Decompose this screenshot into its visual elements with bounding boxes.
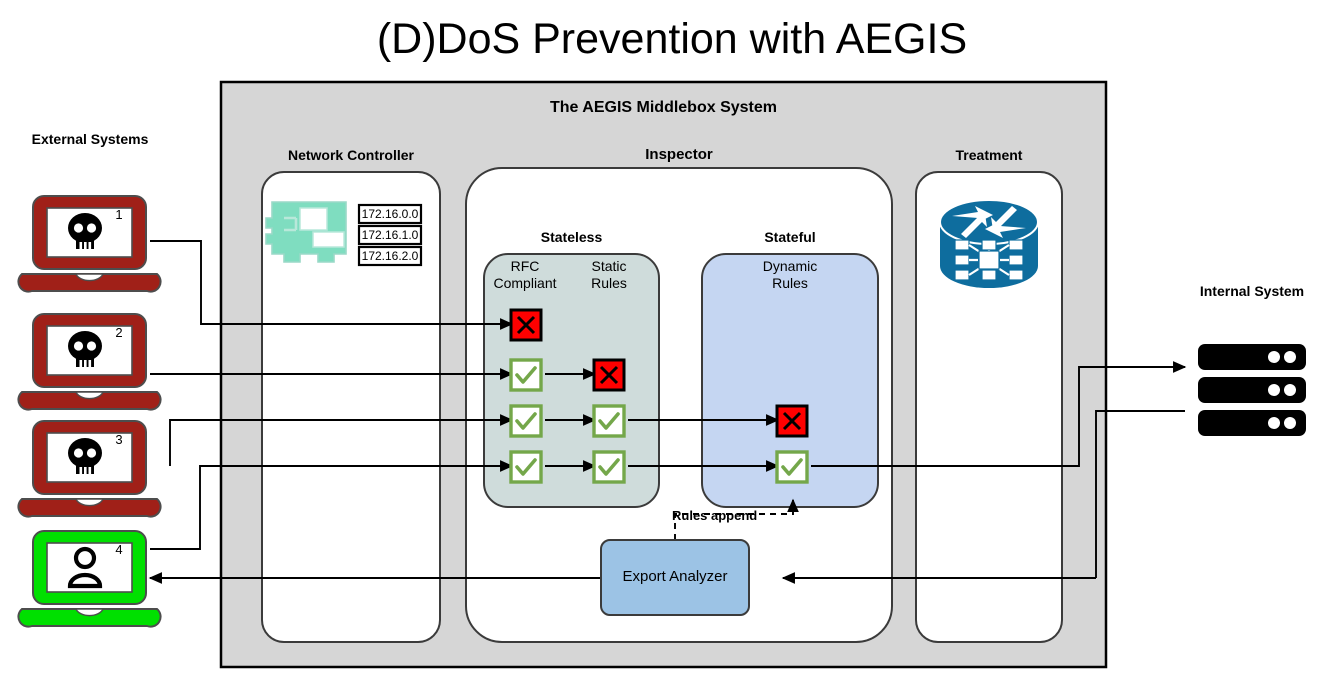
- subnet-label-2: 172.16.2.0: [359, 249, 421, 263]
- static-line-1: Static: [591, 258, 626, 274]
- export-analyzer-label: Export Analyzer: [601, 568, 749, 586]
- inspector-label: Inspector: [466, 146, 892, 163]
- rfc-compliant-column-header: RFC Compliant: [487, 258, 563, 292]
- network-controller-label: Network Controller: [262, 147, 440, 163]
- treatment-label: Treatment: [906, 147, 1072, 163]
- mark-rfc-row-4[interactable]: [511, 452, 541, 482]
- mark-static-row-4[interactable]: [594, 452, 624, 482]
- dynamic-line-1: Dynamic: [763, 258, 817, 274]
- internal-server-unit-1[interactable]: [1198, 344, 1306, 370]
- internal-server-unit-3[interactable]: [1198, 410, 1306, 436]
- external-node-3-number: 3: [110, 432, 128, 448]
- mark-rfc-row-3[interactable]: [511, 406, 541, 436]
- mark-dynamic-row-3[interactable]: [777, 406, 807, 436]
- mark-dynamic-row-4[interactable]: [777, 452, 807, 482]
- dynamic-line-2: Rules: [772, 275, 808, 291]
- external-node-4[interactable]: [18, 531, 160, 627]
- subnet-label-1: 172.16.1.0: [359, 228, 421, 242]
- internal-system-label: Internal System: [1160, 283, 1344, 299]
- diagram-canvas: (D)DoS Prevention with AEGIS The AEGIS M…: [0, 0, 1344, 693]
- dynamic-rules-column-header: Dynamic Rules: [740, 258, 840, 292]
- router-icon: [940, 200, 1038, 288]
- external-node-2[interactable]: [18, 314, 160, 410]
- mark-static-row-2[interactable]: [594, 360, 624, 390]
- flow-return-to-internal-3: [1096, 411, 1185, 578]
- external-systems-label-text: External Systems: [32, 131, 149, 147]
- rfc-line-1: RFC: [511, 258, 540, 274]
- stateful-label: Stateful: [702, 229, 878, 245]
- external-node-4-number: 4: [110, 542, 128, 558]
- middlebox-title: The AEGIS Middlebox System: [221, 99, 1106, 117]
- static-line-2: Rules: [591, 275, 627, 291]
- subnet-label-0: 172.16.0.0: [359, 207, 421, 221]
- internal-server-unit-2[interactable]: [1198, 377, 1306, 403]
- mark-rfc-row-2[interactable]: [511, 360, 541, 390]
- external-node-1[interactable]: [18, 196, 160, 292]
- external-systems-label: External Systems: [10, 131, 170, 147]
- page-title: (D)DoS Prevention with AEGIS: [0, 14, 1344, 66]
- network-interface-card-icon: [266, 202, 346, 262]
- mark-rfc-row-1[interactable]: [511, 310, 541, 340]
- external-node-3[interactable]: [18, 421, 160, 517]
- rules-append-label: Rules append: [672, 509, 792, 524]
- static-rules-column-header: Static Rules: [573, 258, 645, 292]
- external-node-2-number: 2: [110, 325, 128, 341]
- rfc-line-2: Compliant: [493, 275, 556, 291]
- external-node-1-number: 1: [110, 207, 128, 223]
- mark-static-row-3[interactable]: [594, 406, 624, 436]
- stateless-label: Stateless: [484, 229, 659, 245]
